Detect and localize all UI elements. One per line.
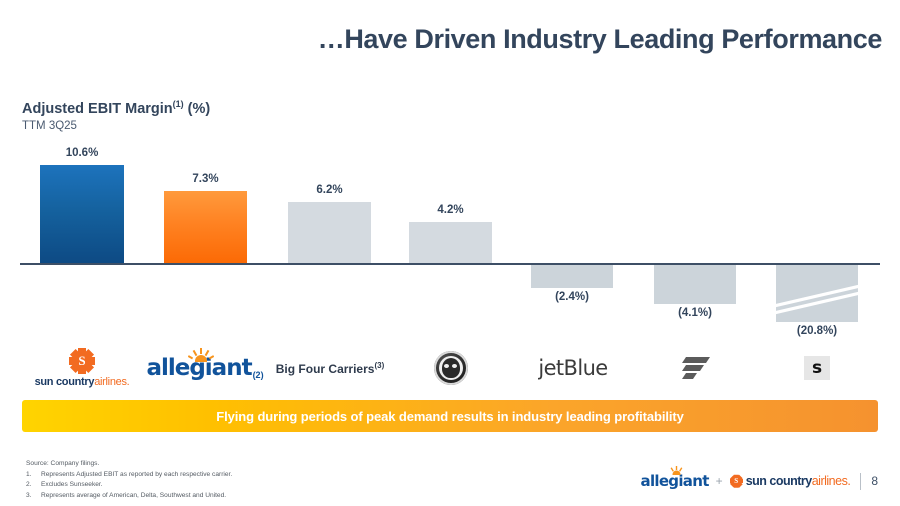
frontier-f-icon bbox=[682, 357, 710, 379]
allegiant-footnote-ref: (2) bbox=[253, 370, 264, 380]
bar-big-four bbox=[288, 202, 371, 263]
footer-sun-country-wordmark: sun countryairlines. bbox=[746, 474, 851, 488]
big-four-text: Big Four Carriers bbox=[276, 362, 375, 376]
logo-sun-country: S sun countryairlines. bbox=[30, 344, 134, 392]
footer-sun-country-logo: S sun countryairlines. bbox=[730, 474, 851, 488]
bar-label-big-four: 6.2% bbox=[288, 184, 371, 196]
bar-label-spirit: (20.8%) bbox=[776, 325, 858, 337]
chart-header: Adjusted EBIT Margin(1) (%) TTM 3Q25 bbox=[22, 99, 210, 132]
footnote-number-2: 2. bbox=[26, 480, 41, 491]
footer-sun-country-sunburst-icon: S bbox=[730, 475, 743, 488]
logo-american bbox=[416, 344, 486, 392]
bar-chart: 10.6% 7.3% 6.2% 4.2% (2.4%) (4.1%) (20.8… bbox=[0, 140, 900, 340]
chart-title-footnote-ref: (1) bbox=[173, 99, 184, 109]
footnote-item-1: 1. Represents Adjusted EBIT as reported … bbox=[26, 470, 232, 481]
footer-plus-sign: + bbox=[716, 474, 723, 488]
footer-allegiant-sunburst-icon bbox=[668, 466, 685, 475]
sun-country-s-letter: S bbox=[74, 353, 91, 370]
bar-label-sun-country: 10.6% bbox=[40, 147, 124, 159]
sun-country-word-a: sun country bbox=[35, 376, 95, 388]
american-face-icon bbox=[439, 356, 463, 380]
sun-country-sunburst-icon: S bbox=[69, 348, 95, 374]
allegiant-sunburst-icon bbox=[188, 348, 214, 362]
axis-break-lines-svg bbox=[776, 265, 858, 322]
axis-break-marker bbox=[776, 265, 858, 322]
sun-country-word-b: airlines. bbox=[94, 376, 129, 388]
logo-big-four-carriers: Big Four Carriers(3) bbox=[272, 344, 388, 392]
page-number: 8 bbox=[871, 474, 878, 488]
logo-jetblue: jetBlue bbox=[530, 344, 616, 392]
footer: allegiant + S sun countryairlines. bbox=[641, 472, 878, 490]
american-circle-icon bbox=[434, 351, 468, 385]
footnote-item-3: 3. Represents average of American, Delta… bbox=[26, 491, 232, 502]
bar-jetblue bbox=[531, 265, 613, 288]
footnote-number-3: 3. bbox=[26, 491, 41, 502]
chart-title-unit: (%) bbox=[184, 101, 211, 117]
footer-sun-country-s-letter: S bbox=[732, 477, 741, 486]
takeaway-banner: Flying during periods of peak demand res… bbox=[22, 400, 878, 432]
bar-label-american: 4.2% bbox=[409, 204, 492, 216]
footnote-text-1: Represents Adjusted EBIT as reported by … bbox=[41, 470, 232, 481]
bar-label-jetblue: (2.4%) bbox=[531, 291, 613, 303]
footer-allegiant-logo: allegiant bbox=[641, 472, 709, 490]
chart-subtitle: TTM 3Q25 bbox=[22, 120, 210, 132]
jetblue-wordmark: jetBlue bbox=[538, 356, 607, 380]
footnote-number-1: 1. bbox=[26, 470, 41, 481]
chart-title-main: Adjusted EBIT Margin bbox=[22, 101, 173, 117]
sun-country-wordmark: sun countryairlines. bbox=[35, 376, 130, 388]
footnotes: Source: Company filings. 1. Represents A… bbox=[26, 459, 232, 502]
logo-allegiant: allegiant (2) bbox=[152, 344, 258, 392]
footnote-text-2: Excludes Sunseeker. bbox=[41, 480, 103, 491]
bar-spirit bbox=[776, 265, 858, 322]
takeaway-banner-text: Flying during periods of peak demand res… bbox=[216, 409, 683, 424]
bar-allegiant bbox=[164, 191, 247, 263]
spirit-s-letter: s bbox=[812, 358, 822, 378]
slide: …Have Driven Industry Leading Performanc… bbox=[0, 0, 900, 506]
big-four-carriers-label: Big Four Carriers(3) bbox=[276, 361, 384, 376]
spirit-mark-icon: s bbox=[804, 356, 830, 380]
chart-zero-axis bbox=[20, 263, 880, 265]
footnote-item-2: 2. Excludes Sunseeker. bbox=[26, 480, 232, 491]
footnote-text-3: Represents average of American, Delta, S… bbox=[41, 491, 226, 502]
footer-sc-word-b: airlines. bbox=[812, 474, 851, 488]
bar-label-allegiant: 7.3% bbox=[164, 173, 247, 185]
carrier-logos-row: S sun countryairlines. allegiant bbox=[0, 344, 900, 392]
logo-spirit: s bbox=[780, 344, 854, 392]
bar-frontier bbox=[654, 265, 736, 304]
chart-title: Adjusted EBIT Margin(1) (%) bbox=[22, 99, 210, 118]
bar-sun-country bbox=[40, 165, 124, 263]
big-four-footnote-ref: (3) bbox=[374, 361, 384, 370]
footnote-source: Source: Company filings. bbox=[26, 459, 232, 470]
logo-frontier bbox=[658, 344, 734, 392]
footer-divider bbox=[860, 473, 861, 490]
bar-american bbox=[409, 222, 492, 263]
footer-sc-word-a: sun country bbox=[746, 474, 812, 488]
bar-label-frontier: (4.1%) bbox=[654, 307, 736, 319]
page-title: …Have Driven Industry Leading Performanc… bbox=[300, 24, 882, 54]
